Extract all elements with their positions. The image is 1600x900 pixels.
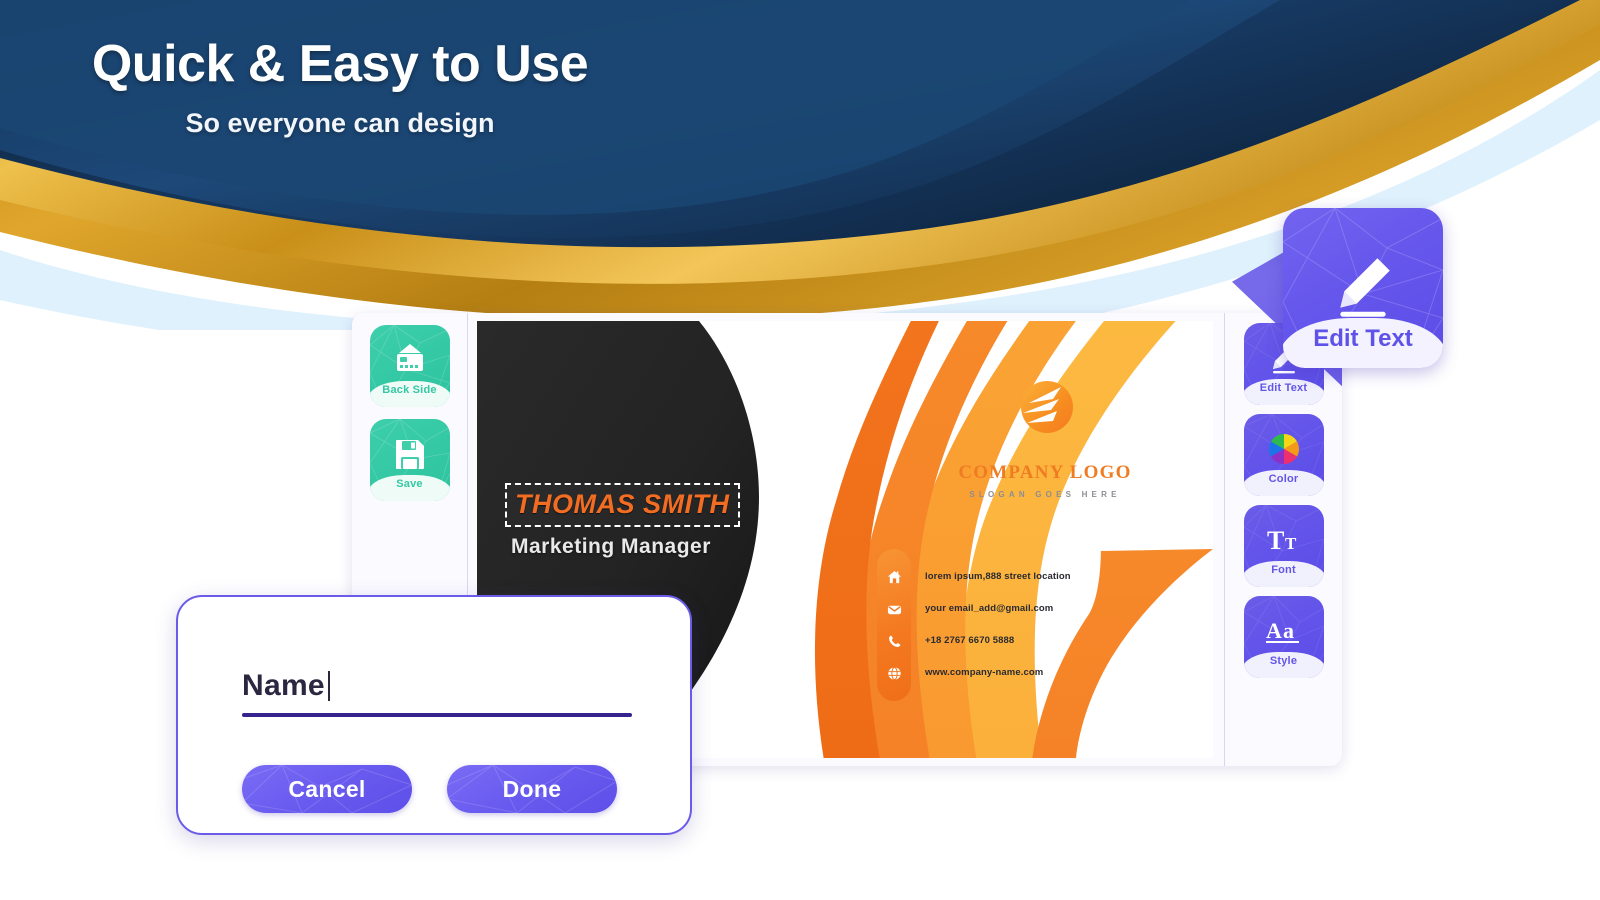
- callout-card[interactable]: Edit Text: [1283, 208, 1443, 368]
- card-back-icon: [387, 339, 433, 381]
- cancel-button-label: Cancel: [288, 776, 365, 803]
- company-logo-block: COMPANY LOGO SLOGAN GOES HERE: [911, 373, 1179, 499]
- contact-line-email: your email_add@gmail.com: [925, 604, 1071, 614]
- right-toolbar: Edit Text: [1224, 313, 1342, 766]
- text-style-aa-icon: A a: [1261, 610, 1307, 652]
- tool-label-edit-text: Edit Text: [1244, 379, 1324, 405]
- name-input[interactable]: Name: [242, 665, 632, 707]
- text-caret: [328, 671, 330, 701]
- contact-line-phone: +18 2767 6670 5888: [925, 636, 1071, 646]
- pencil-edit-icon: [1328, 252, 1398, 323]
- svg-text:A: A: [1266, 618, 1282, 643]
- contact-line-address: lorem ipsum,888 street location: [925, 572, 1071, 582]
- tool-label-style: Style: [1244, 652, 1324, 678]
- contact-block: lorem ipsum,888 street location your ema…: [877, 549, 1187, 701]
- company-logo-title: COMPANY LOGO: [911, 462, 1179, 484]
- svg-text:T: T: [1267, 526, 1284, 555]
- tool-label-save: Save: [370, 475, 450, 501]
- name-input-value: Name: [242, 669, 325, 703]
- contact-text-lines: lorem ipsum,888 street location your ema…: [925, 549, 1071, 701]
- tool-button-font[interactable]: T T Font: [1244, 505, 1324, 587]
- tool-button-color[interactable]: Color: [1244, 414, 1324, 496]
- name-input-row[interactable]: Name: [242, 665, 632, 717]
- color-wheel-icon: [1261, 428, 1307, 470]
- font-size-tt-icon: T T: [1261, 519, 1307, 561]
- tool-button-save[interactable]: Save: [370, 419, 450, 501]
- tool-label-back-side: Back Side: [370, 381, 450, 407]
- edit-text-callout[interactable]: Edit Text: [1283, 208, 1443, 368]
- tool-button-style[interactable]: A a Style: [1244, 596, 1324, 678]
- tool-button-back-side[interactable]: Back Side: [370, 325, 450, 407]
- svg-text:a: a: [1283, 618, 1294, 643]
- name-selection-box[interactable]: THOMAS SMITH: [505, 483, 740, 527]
- contact-line-website: www.company-name.com: [925, 668, 1071, 678]
- edit-name-dialog[interactable]: Name Cancel Done: [176, 595, 692, 835]
- card-name-text[interactable]: THOMAS SMITH: [515, 489, 730, 520]
- cancel-button[interactable]: Cancel: [242, 765, 412, 813]
- callout-label: Edit Text: [1283, 318, 1443, 368]
- company-slogan: SLOGAN GOES HERE: [911, 490, 1179, 499]
- envelope-icon: [886, 601, 903, 618]
- done-button[interactable]: Done: [447, 765, 617, 813]
- contact-icon-pill: [877, 549, 911, 701]
- tool-label-font: Font: [1244, 561, 1324, 587]
- svg-text:T: T: [1285, 534, 1297, 553]
- card-role-text[interactable]: Marketing Manager: [511, 535, 795, 559]
- home-icon: [886, 569, 903, 586]
- dialog-button-row: Cancel Done: [242, 765, 632, 813]
- input-underline: [242, 713, 632, 717]
- tool-label-color: Color: [1244, 470, 1324, 496]
- card-info-area: COMPANY LOGO SLOGAN GOES HERE: [877, 321, 1213, 758]
- phone-icon: [886, 633, 903, 650]
- floppy-disk-icon: [387, 433, 433, 475]
- done-button-label: Done: [503, 776, 562, 803]
- globe-icon: [886, 665, 903, 682]
- card-name-block[interactable]: THOMAS SMITH Marketing Manager: [505, 483, 795, 559]
- company-logo-mark: [1009, 373, 1081, 445]
